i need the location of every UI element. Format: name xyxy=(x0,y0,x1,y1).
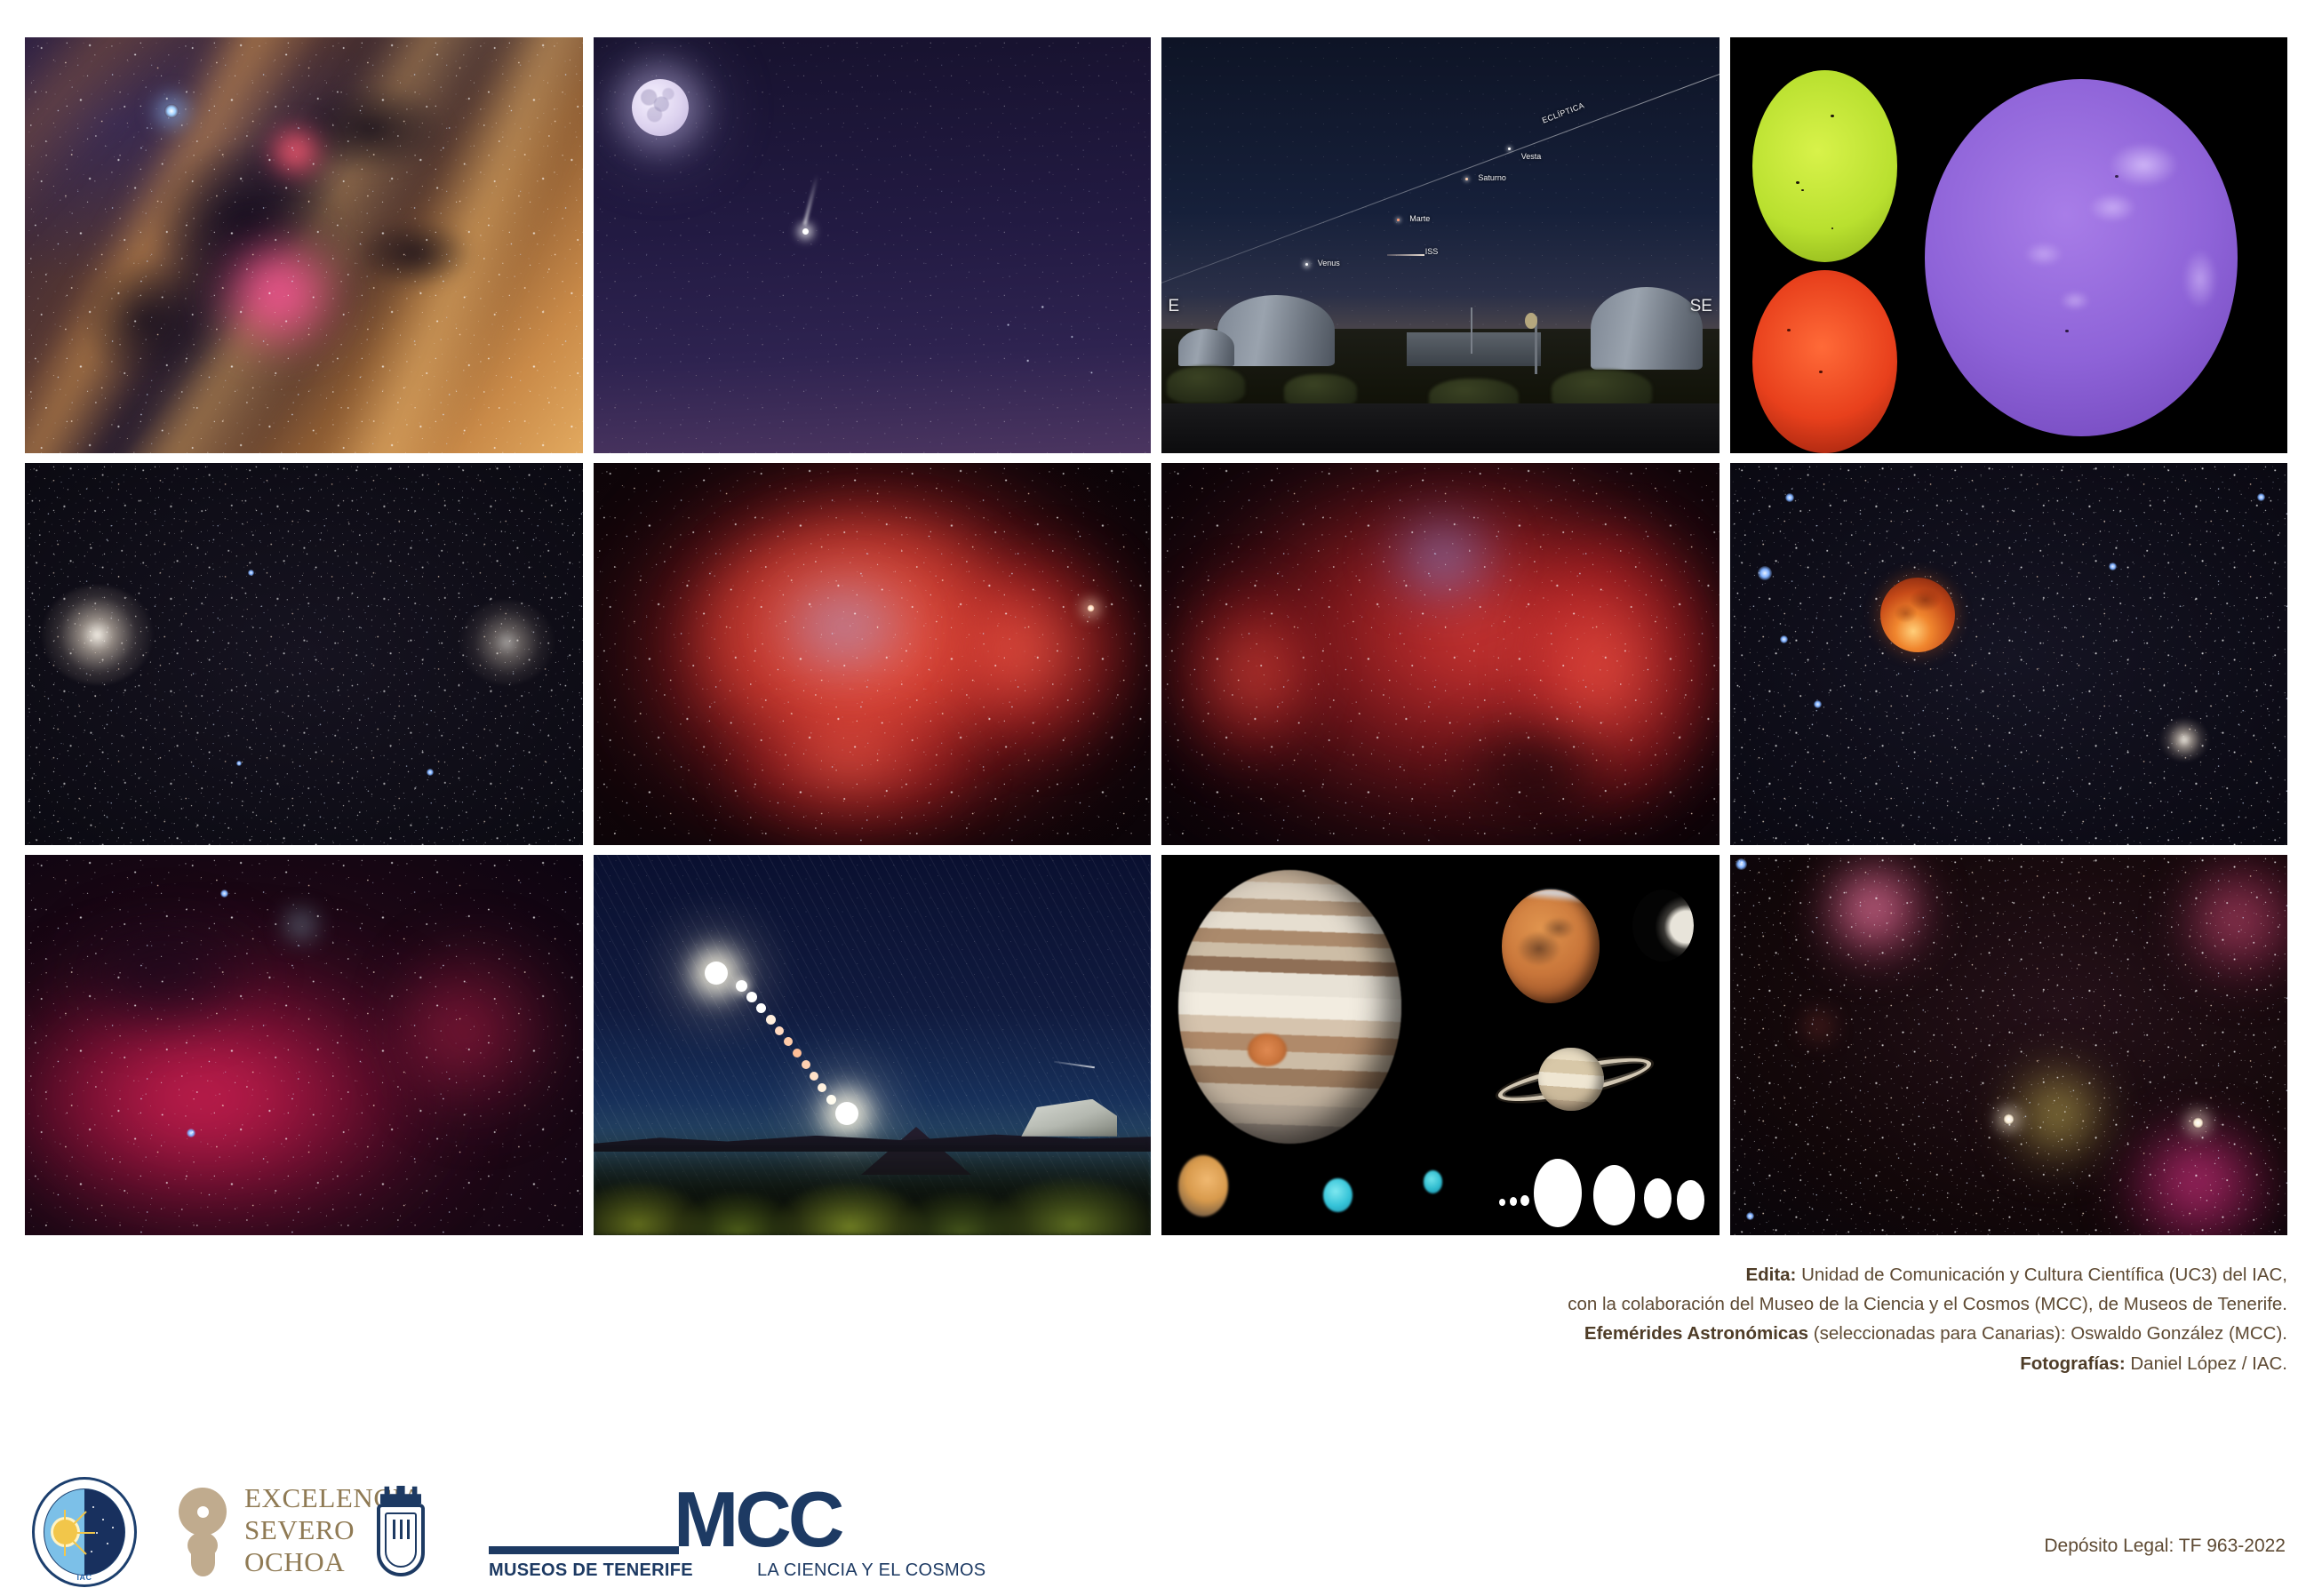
mast-pole xyxy=(1471,307,1472,353)
mcc-subtitle-ciencia: LA CIENCIA Y EL COSMOS xyxy=(757,1560,985,1581)
iac-sun-ray xyxy=(65,1532,95,1534)
saturn-body xyxy=(1538,1048,1604,1112)
moon-trail-dot xyxy=(766,1015,776,1025)
photo-cell-12[interactable] xyxy=(1730,855,2288,1235)
compass-label-east: E xyxy=(1169,297,1180,316)
bright-star-pair-left xyxy=(2003,1113,2015,1125)
iac-star-dot xyxy=(92,1506,94,1508)
severo-ochoa-mark-icon xyxy=(173,1488,228,1576)
iac-logo[interactable]: IAC xyxy=(32,1477,137,1587)
blue-star xyxy=(1780,635,1788,643)
dark-nebula-lane xyxy=(69,915,259,1029)
blue-star xyxy=(1746,1212,1754,1220)
photo-cell-9[interactable] xyxy=(25,855,583,1235)
monkey-head-nebula xyxy=(1830,866,1925,958)
star-field xyxy=(1730,463,2288,845)
nebula-lobe-bottom xyxy=(727,722,972,837)
size-disk-medium xyxy=(1644,1178,1672,1218)
credits-block: Edita: Unidad de Comunicación y Cultura … xyxy=(901,1260,2287,1378)
shield-rib xyxy=(400,1520,403,1539)
object-label-saturno: Saturno xyxy=(1478,173,1506,182)
footer-logos: IAC EXCELENCIA SEVERO OCHOA xyxy=(0,1466,2314,1596)
blue-star xyxy=(1758,566,1772,580)
object-label-venus: Venus xyxy=(1318,259,1340,267)
photo-cell-11[interactable] xyxy=(1161,855,1720,1235)
deposito-legal: Depósito Legal: TF 963-2022 xyxy=(2044,1536,2286,1557)
globular-cluster xyxy=(2159,719,2209,761)
photo-cell-5[interactable] xyxy=(25,463,583,845)
mcc-underline-rule xyxy=(489,1546,679,1554)
photo-cell-2[interactable] xyxy=(594,37,1152,453)
iac-star-dot xyxy=(91,1551,92,1552)
moon-setting-bright xyxy=(705,962,728,985)
blue-star xyxy=(2109,563,2117,571)
blue-star xyxy=(1735,858,1747,870)
photo-gallery-grid: ECLÍPTICA Vesta Saturno Marte ISS Venus … xyxy=(25,37,2287,1235)
bright-star-pair-right xyxy=(2192,1117,2204,1129)
moon-trail-dot xyxy=(736,980,747,992)
sunspot xyxy=(2115,175,2119,178)
building-container xyxy=(1407,332,1541,365)
bush-1 xyxy=(1167,366,1245,403)
moon xyxy=(632,79,689,136)
star-field-small xyxy=(1730,463,2288,845)
shield-rib xyxy=(407,1520,410,1539)
mcc-logo[interactable]: MCC MUSEOS DE TENERIFE LA CIENCIA Y EL C… xyxy=(373,1479,1262,1585)
photo-cell-3[interactable]: ECLÍPTICA Vesta Saturno Marte ISS Venus … xyxy=(1161,37,1720,453)
globular-cluster-bright xyxy=(42,586,154,685)
sunspot xyxy=(1801,189,1804,191)
nebula-lower-right-magenta xyxy=(2120,1129,2277,1235)
small-emission-knot xyxy=(1807,1015,1830,1038)
sun-calcium-k-disk xyxy=(1925,79,2237,436)
moon-trail-dot xyxy=(810,1072,818,1081)
great-red-spot xyxy=(1248,1033,1287,1065)
eclipsed-moon xyxy=(1880,578,1955,652)
object-point-vesta xyxy=(1508,148,1511,150)
blue-star xyxy=(427,769,434,776)
credits-line-edita: Edita: Unidad de Comunicación y Cultura … xyxy=(901,1260,2287,1289)
iac-star-dot xyxy=(102,1519,104,1520)
moon-trail-dot xyxy=(784,1037,793,1046)
iac-star-dot xyxy=(112,1527,114,1528)
telescope-dome-left xyxy=(1217,295,1335,366)
road xyxy=(1161,403,1720,453)
object-point-venus xyxy=(1305,263,1308,266)
size-disk-medium-2 xyxy=(1677,1180,1704,1220)
jupiter xyxy=(1178,870,1401,1144)
star-field-faint xyxy=(1730,463,2288,845)
credits-text-edita: Unidad de Comunicación y Cultura Científ… xyxy=(1796,1265,2287,1285)
nebula-arc-right xyxy=(972,547,1139,754)
mcc-subtitle-museos: MUSEOS DE TENERIFE xyxy=(489,1560,693,1581)
size-dot-tiny xyxy=(1499,1199,1505,1206)
credits-text-fotografias: Daniel López / IAC. xyxy=(2126,1353,2287,1374)
iac-star-dot xyxy=(107,1543,108,1544)
sunspot xyxy=(1819,371,1823,373)
pleiades-cluster xyxy=(984,295,1106,395)
sunspot xyxy=(1831,115,1834,117)
credits-label-edita: Edita: xyxy=(1745,1265,1796,1285)
severo-mark-bottom xyxy=(191,1553,215,1576)
saturn xyxy=(1496,1037,1653,1121)
size-dot-small xyxy=(1520,1195,1529,1206)
iss-trail xyxy=(1387,254,1424,255)
blue-star xyxy=(1814,700,1822,708)
compass-label-southeast: SE xyxy=(1690,297,1712,316)
nebula-blue-reflection xyxy=(1384,509,1502,609)
credits-label-efemerides: Efemérides Astronómicas xyxy=(1584,1323,1808,1344)
blue-star xyxy=(220,890,228,898)
dark-nebula-patches xyxy=(25,37,583,453)
aircraft-trail xyxy=(1054,1061,1095,1068)
nebula-right-glow xyxy=(393,931,571,1129)
uranus xyxy=(1323,1178,1352,1213)
credits-line-efemerides: Efemérides Astronómicas (seleccionadas p… xyxy=(901,1319,2287,1348)
poster-page: ECLÍPTICA Vesta Saturno Marte ISS Venus … xyxy=(0,0,2314,1596)
sun-halpha-disk xyxy=(1752,270,1897,453)
moon-trail-dot xyxy=(793,1049,802,1057)
object-label-iss: ISS xyxy=(1425,247,1439,256)
emission-region-pink xyxy=(226,245,331,341)
size-disk-large-2 xyxy=(1593,1165,1636,1225)
sunspot xyxy=(1796,181,1799,184)
blue-star xyxy=(1785,493,1794,502)
vegetation-foreground xyxy=(594,1129,1152,1235)
ecliptic-line xyxy=(1161,65,1720,296)
object-label-vesta: Vesta xyxy=(1521,152,1542,161)
moon-trail-dot xyxy=(746,992,757,1002)
credits-text-efemerides: (seleccionadas para Canarias): Oswaldo G… xyxy=(1808,1323,2287,1344)
object-point-marte xyxy=(1397,219,1400,221)
photo-cell-10[interactable] xyxy=(594,855,1152,1235)
sunspot xyxy=(2065,330,2069,332)
moon-trail-dot xyxy=(756,1003,766,1013)
size-dot-tiny xyxy=(1510,1197,1517,1206)
nebula-arc-left xyxy=(1167,578,1312,769)
moon-setting-low xyxy=(835,1102,858,1125)
credits-label-fotografias: Fotografías: xyxy=(2020,1353,2125,1374)
iac-star-dot xyxy=(96,1532,98,1534)
moon-crescent-phase xyxy=(1632,890,1694,962)
iac-logo-disk xyxy=(44,1488,125,1576)
credits-line-fotografias: Fotografías: Daniel López / IAC. xyxy=(901,1349,2287,1378)
severo-mark-top xyxy=(179,1488,227,1536)
mcc-acronym: MCC xyxy=(674,1482,841,1557)
nebula-cavity-blue xyxy=(778,578,912,677)
iac-acronym: IAC xyxy=(32,1573,137,1582)
bright-blue-star xyxy=(164,104,179,118)
moon-trail-dot xyxy=(775,1026,784,1035)
sunspot xyxy=(1831,227,1833,229)
ecliptic-label: ECLÍPTICA xyxy=(1541,100,1585,124)
moon-trail-dot xyxy=(802,1060,810,1069)
jellyfish-nebula xyxy=(2008,1064,2103,1162)
blue-star xyxy=(2257,493,2265,501)
comet-tail xyxy=(803,175,818,226)
moon-trail-dot xyxy=(826,1095,836,1105)
venus xyxy=(1178,1155,1228,1216)
photo-cell-1[interactable] xyxy=(25,37,583,453)
nebula-right-pink xyxy=(2187,855,2287,985)
sunspot xyxy=(1787,329,1791,331)
credits-line-colaboracion: con la colaboración del Museo de la Cien… xyxy=(901,1289,2287,1319)
photo-cell-4[interactable] xyxy=(1730,37,2288,453)
comet-nucleus xyxy=(802,228,809,235)
sign-plate xyxy=(1525,313,1537,329)
photo-cell-6[interactable] xyxy=(594,463,1152,845)
globular-cluster-faint xyxy=(459,601,555,685)
blue-star xyxy=(236,761,242,766)
dark-lane xyxy=(1451,722,1618,822)
tenerife-shield-icon xyxy=(373,1486,428,1576)
mars xyxy=(1502,890,1600,1003)
object-label-marte: Marte xyxy=(1409,214,1430,223)
crown-icon xyxy=(380,1486,421,1504)
moon-trail-dot xyxy=(818,1083,826,1092)
blue-star xyxy=(248,570,254,576)
neptune xyxy=(1424,1170,1442,1193)
photo-cell-8[interactable] xyxy=(1730,463,2288,845)
sun-white-light-disk xyxy=(1752,70,1897,261)
photo-cell-7[interactable] xyxy=(1161,463,1720,845)
object-point-saturno xyxy=(1465,178,1468,180)
shield-rib xyxy=(393,1520,395,1539)
telescope-dome-right xyxy=(1591,287,1703,371)
emission-knot-red xyxy=(270,129,320,174)
telescope-dome-small xyxy=(1178,329,1234,366)
size-disk-large xyxy=(1534,1159,1582,1227)
